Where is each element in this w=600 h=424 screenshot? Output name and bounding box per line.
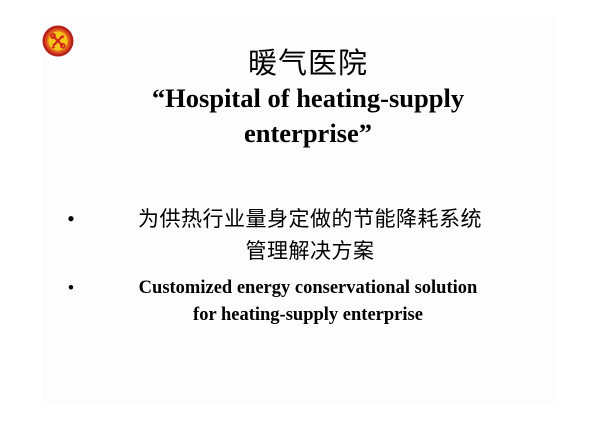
bullet-chinese-line-2: 管理解决方案	[80, 235, 540, 267]
slide-title-chinese: 暖气医院	[78, 46, 538, 80]
bullet-text-chinese: 为供热行业量身定做的节能降耗系统 管理解决方案	[80, 203, 540, 267]
slide-title-english-line-2: enterprise”	[78, 116, 538, 150]
slide-title-english-line-1: “Hospital of heating-supply	[78, 81, 538, 115]
bullet-item-english: • Customized energy conservational solut…	[62, 275, 540, 329]
bullet-text-english: Customized energy conservational solutio…	[80, 275, 540, 329]
presentation-slide: 暖气医院 “Hospital of heating-supply enterpr…	[0, 0, 600, 424]
slide-content: 暖气医院 “Hospital of heating-supply enterpr…	[0, 0, 600, 424]
company-emblem-logo	[42, 25, 74, 57]
slide-title-block: 暖气医院 “Hospital of heating-supply enterpr…	[78, 46, 538, 150]
bullet-dot-icon: •	[62, 275, 80, 302]
bullet-english-line-2: for heating-supply enterprise	[80, 302, 536, 329]
bullet-english-line-1: Customized energy conservational solutio…	[80, 275, 536, 302]
emblem-icon	[42, 25, 74, 57]
bullet-chinese-line-1: 为供热行业量身定做的节能降耗系统	[80, 203, 540, 235]
slide-body-block: • 为供热行业量身定做的节能降耗系统 管理解决方案 • Customized e…	[62, 203, 540, 329]
bullet-dot-icon: •	[62, 203, 80, 235]
bullet-item-chinese: • 为供热行业量身定做的节能降耗系统 管理解决方案	[62, 203, 540, 267]
